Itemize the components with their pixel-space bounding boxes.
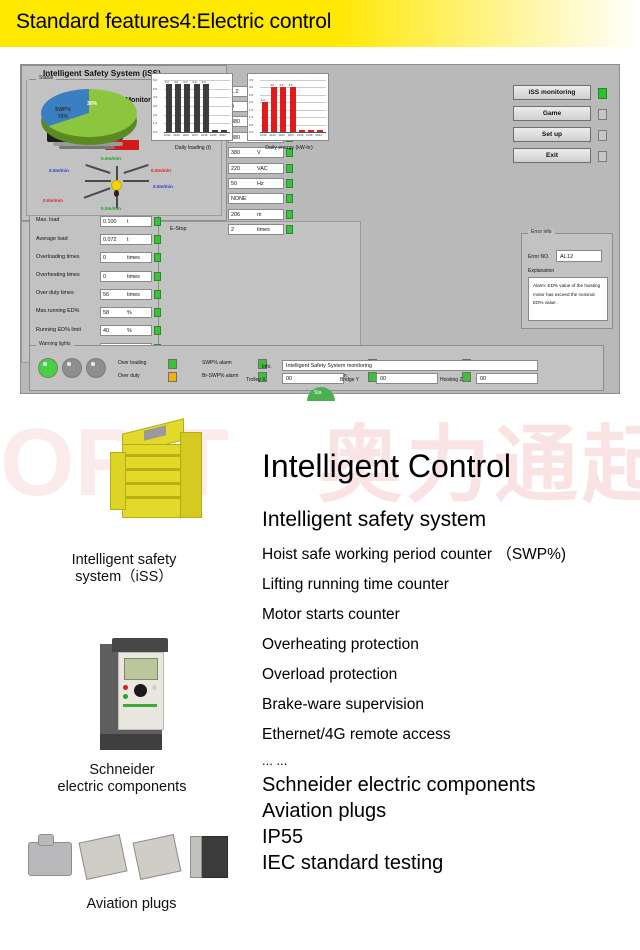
bar-label: 3.0 [279,83,283,87]
x-tick: 10/17 [288,134,295,137]
row-unit: times [257,227,270,233]
bar-label: 3.0 [270,83,274,87]
x-tick: 10/16 [182,134,189,137]
warning-led [168,372,177,382]
row-label: E-Stop [170,226,186,232]
status-row: Max.running ED%58% [34,306,160,318]
coord-field[interactable]: 00 [282,373,344,384]
row-field[interactable]: NONE [228,193,284,204]
bar [175,84,181,132]
hmi-button-iss-monitoring[interactable]: iSS monitoring [513,85,591,100]
row-led [154,253,161,262]
product-image-plugs [24,828,239,890]
row-led [286,194,293,203]
bullet-item: IP55 [262,824,640,850]
info-label: Info. [262,364,272,370]
caption-iss: Intelligent safety system（iSS） [34,552,214,586]
product-image-schneider [96,638,206,756]
bar-label: 6.0 [183,80,187,84]
feature-item: Lifting running time counter [262,570,640,600]
warning-label: Over loading [118,360,146,366]
coord-value: 00 [286,376,292,382]
bullet-item: Aviation plugs [262,798,640,824]
row-value: 0.072 [103,237,117,243]
row-value: 206 [231,212,240,218]
row-led [286,210,293,219]
row-unit: VAC [257,166,268,172]
row-label: Max.running ED% [36,308,79,314]
feature-item: Hoist safe working period counter （SWP%) [262,540,640,570]
bar [262,102,268,132]
hmi-button-column: iSS monitoringGameSet upExit [513,85,613,169]
row-unit: t [127,237,129,243]
row-value: 0.100 [103,219,117,225]
coord-label: Hoisting Z [440,377,463,383]
button-led [598,130,607,141]
x-tick: 10/16 [278,134,285,137]
swp-pie-chart: 30%SWP%70% [29,71,149,191]
row-led [286,164,293,173]
x-tick: 10/19 [306,134,313,137]
bar [290,87,296,132]
row-unit: m [257,212,262,218]
bar-label: 6.0 [202,80,206,84]
feature-text-column: Intelligent Control Intelligent safety s… [262,448,640,876]
warning-lamp [38,358,58,378]
button-led [598,109,607,120]
error-no-field[interactable]: AL12 [556,250,602,262]
warning-label: Br-SWP% alarm [202,373,238,379]
row-value: 0 [103,274,106,280]
coord-value: 00 [480,376,486,382]
x-tick: 10/15 [269,134,276,137]
ellipsis-text: ... ... [262,750,640,772]
row-unit: Hz [257,181,264,187]
row-led [286,179,293,188]
x-tick: 10/20 [315,134,322,137]
info-field[interactable]: Intelligent Safety System monitoring [282,360,538,371]
product-image-iss [100,418,230,548]
speed-bottom: 0.0m/min [101,206,121,211]
row-field[interactable]: 40% [100,325,152,336]
status-row: Overheating times0times [34,270,160,282]
coord-field[interactable]: 00 [476,373,538,384]
row-field[interactable]: 0.100t [100,216,152,227]
hmi-button-set-up[interactable]: Set up [513,127,591,142]
row-led [154,217,161,226]
coord-label: Bridge Y [340,377,359,383]
row-field[interactable]: 0times [100,252,152,263]
status-arc-label: Sta [314,390,322,396]
warning-label: Over duty [118,373,140,379]
pie-label-blue: 30% [87,101,97,107]
row-field[interactable]: 2times [228,224,284,235]
row-field[interactable]: 58% [100,307,152,318]
row-value: NONE [231,196,247,202]
warning-lamp [86,358,106,378]
status-row: Max. load0.100t [34,215,160,227]
explanation-text: Alarm: ED% value of the hoisting motor h… [528,277,608,321]
caption-iss-line1: Intelligent safety [34,552,214,569]
hmi-screenshot-panel: Status Total running time625minUpwards t… [20,64,620,394]
bar-label: 2.0 [261,98,265,102]
speed-upper-right: 0.0m/min [151,168,171,173]
caption-plugs: Aviation plugs [24,896,239,913]
chart-caption: Daily loading (t) [147,145,239,151]
row-unit: times [127,274,140,280]
feature-item: Ethernet/4G remote access [262,720,640,750]
row-label: Overheating times [36,272,80,278]
x-tick: 10/14 [260,134,267,137]
feature-item: Brake-ware supervision [262,690,640,720]
row-unit: times [127,255,140,261]
button-led [598,88,607,99]
bullet-item: Schneider electric components [262,772,640,798]
button-led [598,151,607,162]
coord-value: 00 [380,376,386,382]
speed-lower-left: 0.0m/min [43,198,63,203]
bar [194,84,200,132]
explanation-label: Explanation [528,268,554,274]
speed-right: 0.0m/min [153,184,173,189]
status-row: Overloading times0times [34,252,160,264]
warning-lamp [62,358,82,378]
chart-plot-area: 0.01.02.03.04.05.06.06.010/146.010/156.0… [151,73,233,141]
row-field[interactable]: 50Hz [228,178,284,189]
chart-plot-area: 0.00.51.01.52.02.53.03.52.010/143.010/15… [247,73,329,141]
hmi-button-game[interactable]: Game [513,106,591,121]
row-value: 0 [103,255,106,261]
feature-item: Motor starts counter [262,600,640,630]
error-no-label: Error NO. [528,254,549,260]
row-label: Average load [36,236,68,242]
daily-energy-chart: 0.00.51.01.52.02.53.03.52.010/143.010/15… [247,65,339,161]
warning-led [462,372,471,382]
daily-loading-chart: 0.01.02.03.04.05.06.06.010/146.010/156.0… [151,65,243,161]
x-tick: 10/20 [219,134,226,137]
pie-label-green: SWP%70% [55,107,71,121]
row-label: Over duty times [36,290,74,296]
row-field[interactable]: 0times [100,271,152,282]
x-tick: 10/18 [201,134,208,137]
row-led [286,225,293,234]
row-led [154,326,161,335]
title-bar: Standard features4:Electric control [0,0,640,47]
caption-iss-line2: system（iSS） [34,569,214,586]
x-tick: 10/17 [192,134,199,137]
bullet-list: Schneider electric componentsAviation pl… [262,772,640,876]
bar-label: 6.0 [193,80,197,84]
row-label: Overloading times [36,254,79,260]
error-no-value: AL12 [560,254,573,260]
row-value: 56 [103,292,109,298]
caption-schneider-line1: Schneider [22,762,222,779]
row-value: 50 [231,181,237,187]
row-led [154,235,161,244]
chart-caption: Daily energy (kW-hr) [243,145,335,151]
bar [280,87,286,132]
coord-label: Trolley X [246,377,266,383]
status-row: Average load0.072t [34,234,160,246]
x-tick: 10/19 [210,134,217,137]
row-unit: t [127,219,129,225]
row-unit: % [127,328,132,334]
caption-schneider: Schneider electric components [22,762,222,796]
row-label: Max. load [36,217,59,223]
row-value: 40 [103,328,109,334]
x-tick: 10/15 [173,134,180,137]
warning-lights-group: Warning lights Over loadingOver dutySWP%… [29,345,604,391]
bar [184,84,190,132]
bar-label: 6.0 [165,80,169,84]
info-value: Intelligent Safety System monitoring [286,363,372,369]
feature-item: Overload protection [262,660,640,690]
warning-label: SWP% alarm [202,360,232,366]
error-info-group: Error info Error NO. AL12 Explanation Al… [521,233,613,329]
main-heading: Intelligent Control [262,448,640,484]
feature-list: Hoist safe working period counter （SWP%)… [262,540,640,750]
bullet-item: IEC standard testing [262,850,640,876]
row-unit: times [127,292,140,298]
row-field[interactable]: 206m [228,209,284,220]
warning-led [168,359,177,369]
x-tick: 10/18 [297,134,304,137]
warning-lights-label: Warning lights [36,341,74,347]
row-field[interactable]: 0.072t [100,234,152,245]
caption-plugs-line1: Aviation plugs [24,896,239,913]
bar [166,84,172,132]
row-led [154,290,161,299]
row-label: Running ED% limit [36,327,81,333]
bar-label: 6.0 [174,80,178,84]
status-row: E-Stop2times [168,224,294,236]
error-info-label: Error info [528,229,555,235]
bar-label: 3.0 [289,83,293,87]
row-unit: % [127,310,132,316]
bar [271,87,277,132]
row-value: 58 [103,310,109,316]
lower-content: Intelligent safety system（iSS） Schneider… [0,400,640,950]
caption-schneider-line2: electric components [22,779,222,796]
bar [203,84,209,132]
page-title: Standard features4:Electric control [16,10,331,34]
row-field[interactable]: 220VAC [228,163,284,174]
status-row: Running ED% limit40% [34,325,160,337]
row-value: 220 [231,166,240,172]
row-field[interactable]: 56times [100,289,152,300]
status-row: Over duty times56times [34,288,160,300]
row-value: 2 [231,227,234,233]
sub-heading: Intelligent safety system [262,508,640,532]
feature-item: Overheating protection [262,630,640,660]
hmi-button-exit[interactable]: Exit [513,148,591,163]
row-led [154,272,161,281]
x-tick: 10/14 [164,134,171,137]
row-led [154,308,161,317]
coord-field[interactable]: 00 [376,373,438,384]
